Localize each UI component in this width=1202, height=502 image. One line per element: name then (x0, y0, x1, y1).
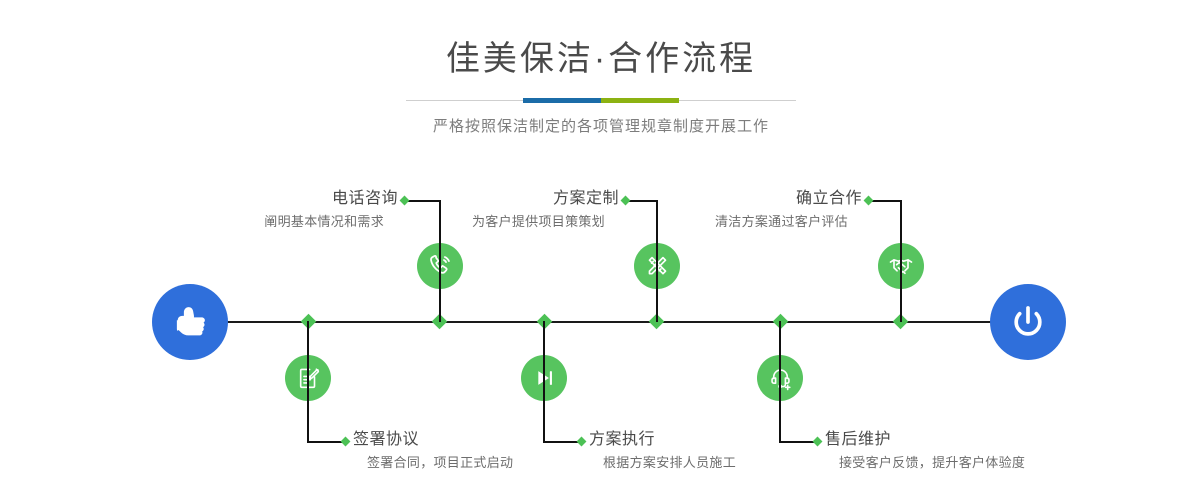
label-dot-5 (864, 196, 874, 206)
step-desc-2: 签署合同，项目正式启动 (367, 453, 593, 473)
step-desc-1: 阐明基本情况和需求 (160, 212, 384, 232)
step-title-2: 签署协议 (353, 430, 593, 450)
connector-horizontal-4 (543, 441, 579, 443)
pointing-hand-icon (169, 301, 211, 343)
connector-horizontal-6 (779, 441, 815, 443)
step-label-6: 售后维护 接受客户反馈，提升客户体验度 (825, 430, 1105, 473)
connector-vertical-5 (900, 200, 902, 322)
connector-horizontal-2 (307, 441, 343, 443)
step-title-1: 电话咨询 (160, 189, 398, 209)
power-icon (1007, 301, 1049, 343)
step-desc-5: 清洁方案通过客户评估 (630, 212, 848, 232)
step-desc-4: 根据方案安排人员施工 (603, 453, 829, 473)
timeline-end-node (990, 284, 1066, 360)
step-label-3: 方案定制 为客户提供项目策策划 (390, 189, 619, 232)
label-dot-3 (621, 196, 631, 206)
timeline-axis (165, 321, 1040, 323)
step-label-2: 签署协议 签署合同，项目正式启动 (353, 430, 593, 473)
step-title-5: 确立合作 (630, 189, 862, 209)
connector-vertical-4 (543, 321, 545, 443)
step-title-6: 售后维护 (825, 430, 1105, 450)
step-label-1: 电话咨询 阐明基本情况和需求 (160, 189, 398, 232)
label-dot-2 (341, 437, 351, 447)
step-desc-3: 为客户提供项目策策划 (390, 212, 605, 232)
connector-vertical-6 (779, 321, 781, 443)
step-label-4: 方案执行 根据方案安排人员施工 (589, 430, 829, 473)
step-title-3: 方案定制 (390, 189, 619, 209)
step-label-5: 确立合作 清洁方案通过客户评估 (630, 189, 862, 232)
connector-vertical-2 (307, 321, 309, 443)
timeline: 电话咨询 阐明基本情况和需求 签署协议 签署合同，项目正式启动 (0, 0, 1202, 502)
step-title-4: 方案执行 (589, 430, 829, 450)
flow-diagram-page: 佳美保洁·合作流程 严格按照保洁制定的各项管理规章制度开展工作 (0, 0, 1202, 502)
timeline-start-node (152, 284, 228, 360)
step-desc-6: 接受客户反馈，提升客户体验度 (839, 453, 1105, 473)
